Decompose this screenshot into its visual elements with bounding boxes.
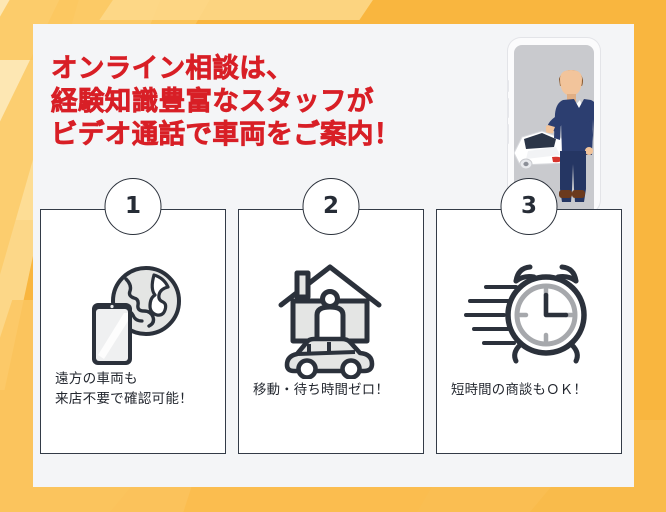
phone-button-icon [507, 124, 509, 144]
page-title: オンライン相談は、 経験知識豊富なスタッフが ビデオ通話で車両をご案内！ [51, 52, 401, 151]
feature-card-1[interactable]: 1 遠方の車両も 来店不要で確認可能！ [40, 209, 226, 454]
headline-line-2: 経験知識豊富なスタッフが [51, 85, 401, 118]
background-streak [99, 0, 460, 20]
headline-line-1: オンライン相談は、 [51, 52, 401, 85]
step-number-badge: 2 [303, 178, 360, 235]
feature-card-3[interactable]: 3 短時間の商談もＯＫ！ [436, 209, 622, 454]
phone-button-icon [507, 98, 509, 118]
feature-card-2[interactable]: 2 移動・待ち時間ゼロ！ [238, 209, 424, 454]
house-car-icon [239, 244, 423, 384]
step-number-badge: 3 [501, 178, 558, 235]
step-number-badge: 1 [105, 178, 162, 235]
promo-banner: オンライン相談は、 経験知識豊富なスタッフが ビデオ通話で車両をご案内！ [0, 0, 666, 512]
alarm-clock-speed-icon [437, 244, 621, 384]
headline-line-3: ビデオ通話で車両をご案内！ [51, 118, 401, 151]
feature-card-1-caption: 遠方の車両も 来店不要で確認可能！ [55, 369, 215, 409]
feature-card-3-caption: 短時間の商談もＯＫ！ [451, 381, 611, 401]
globe-smartphone-icon [41, 244, 225, 384]
phone-button-icon [507, 80, 509, 92]
feature-card-2-caption: 移動・待ち時間ゼロ！ [253, 381, 413, 401]
